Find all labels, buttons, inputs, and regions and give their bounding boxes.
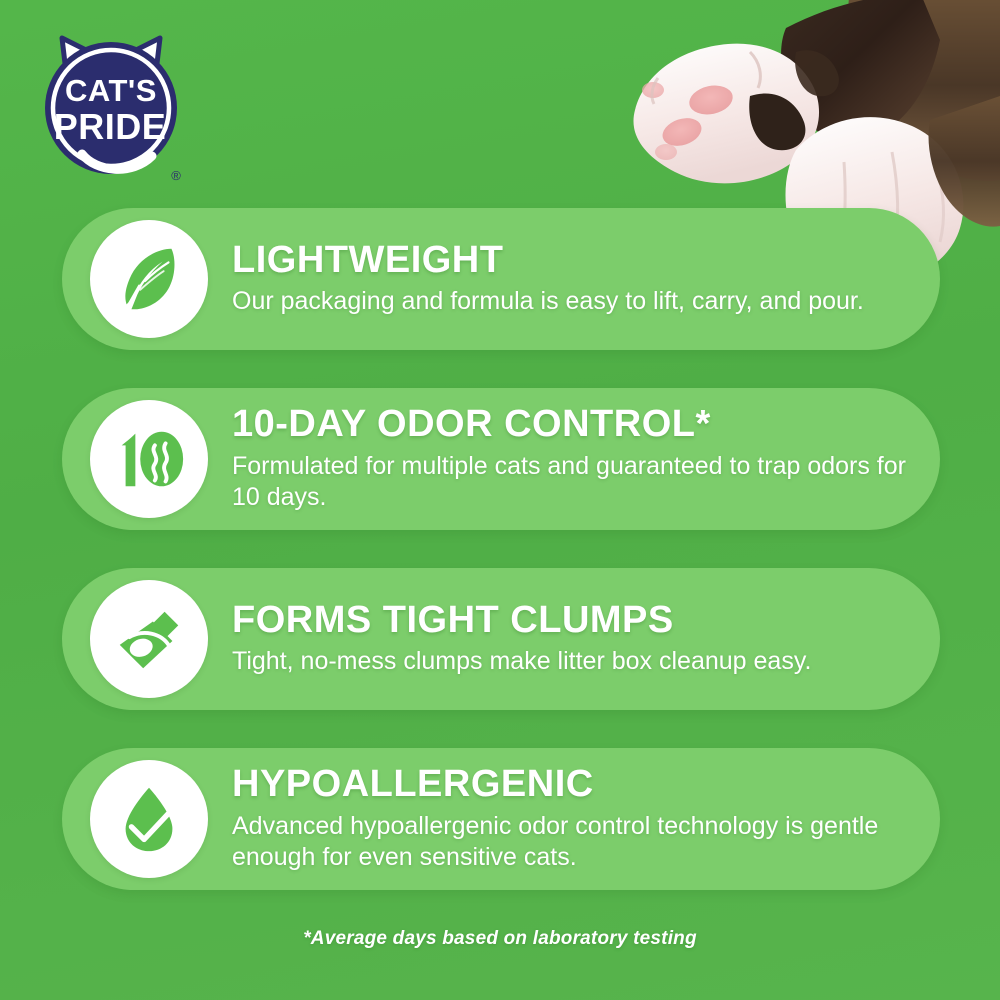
feature-body: Tight, no-mess clumps make litter box cl… [232, 646, 811, 677]
feature-text: FORMS TIGHT CLUMPS Tight, no-mess clumps… [232, 601, 839, 678]
litter-scoop-icon [90, 580, 208, 698]
feature-row-lightweight: LIGHTWEIGHT Our packaging and formula is… [62, 208, 940, 350]
feature-text: LIGHTWEIGHT Our packaging and formula is… [232, 241, 892, 318]
feature-text: 10-DAY ODOR CONTROL* Formulated for mult… [232, 405, 940, 513]
feature-body: Formulated for multiple cats and guarant… [232, 451, 912, 513]
logo-text-pride: PRIDE [54, 106, 167, 147]
feature-text: HYPOALLERGENIC Advanced hypoallergenic o… [232, 765, 940, 873]
feature-row-hypoallergenic: HYPOALLERGENIC Advanced hypoallergenic o… [62, 748, 940, 890]
logo-text-cats: CAT'S [65, 73, 157, 108]
feature-title: HYPOALLERGENIC [232, 765, 912, 805]
feature-title: 10-DAY ODOR CONTROL* [232, 405, 912, 445]
feature-list: LIGHTWEIGHT Our packaging and formula is… [62, 208, 940, 890]
footnote-disclaimer: *Average days based on laboratory testin… [0, 928, 1000, 950]
feature-body: Our packaging and formula is easy to lif… [232, 286, 864, 317]
feature-body: Advanced hypoallergenic odor control tec… [232, 811, 912, 873]
feature-title: LIGHTWEIGHT [232, 241, 864, 281]
registered-mark-icon: ® [171, 168, 181, 183]
cats-pride-logo: CAT'S PRIDE ® [36, 28, 186, 186]
feature-title: FORMS TIGHT CLUMPS [232, 601, 811, 641]
product-feature-graphic: CAT'S PRIDE ® LIGHTWEIGHT Our packaging … [0, 0, 1000, 1000]
feature-row-tight-clumps: FORMS TIGHT CLUMPS Tight, no-mess clumps… [62, 568, 940, 710]
feather-icon [90, 220, 208, 338]
droplet-check-icon [90, 760, 208, 878]
ten-day-odor-icon [90, 400, 208, 518]
feature-row-odor-control: 10-DAY ODOR CONTROL* Formulated for mult… [62, 388, 940, 530]
